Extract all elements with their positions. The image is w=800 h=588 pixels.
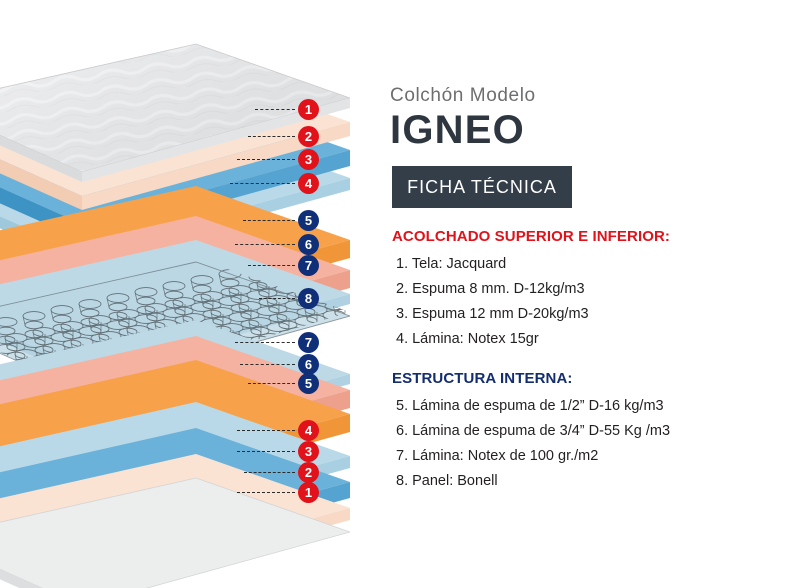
- callout-6[interactable]: 6: [235, 233, 319, 255]
- spec-item: 6. Lámina de espuma de 3/4” D-55 Kg /m3: [396, 419, 670, 444]
- callout-5[interactable]: 5: [248, 372, 319, 394]
- callout-8[interactable]: 8: [259, 287, 319, 309]
- spec-item: 2. Espuma 8 mm. D-12kg/m3: [396, 277, 589, 302]
- leader-line: [240, 364, 295, 365]
- callout-5[interactable]: 5: [243, 209, 319, 231]
- spec-item: 3. Espuma 12 mm D-20kg/m3: [396, 302, 589, 327]
- spec-list-estructura: 5. Lámina de espuma de 1/2” D-16 kg/m36.…: [396, 394, 670, 494]
- badge-number: 3: [298, 149, 319, 170]
- callout-3[interactable]: 3: [237, 148, 319, 170]
- brand-pre-title: Colchón Modelo: [390, 85, 536, 107]
- spec-item: 1. Tela: Jacquard: [396, 252, 589, 277]
- leader-line: [237, 451, 295, 452]
- callout-4[interactable]: 4: [230, 172, 319, 194]
- badge-number: 6: [298, 234, 319, 255]
- spec-item: 4. Lámina: Notex 15gr: [396, 327, 589, 352]
- leader-line: [259, 298, 295, 299]
- callout-2[interactable]: 2: [244, 461, 319, 483]
- callout-3[interactable]: 3: [237, 440, 319, 462]
- spec-list-acolchado: 1. Tela: Jacquard2. Espuma 8 mm. D-12kg/…: [396, 252, 589, 352]
- ficha-tecnica-banner: FICHA TÉCNICA: [392, 166, 572, 208]
- badge-number: 7: [298, 255, 319, 276]
- page-root: 123456787654321 Colchón Modelo IGNEO FIC…: [0, 0, 800, 588]
- callout-1[interactable]: 1: [255, 98, 319, 120]
- badge-number: 7: [298, 332, 319, 353]
- badge-number: 3: [298, 441, 319, 462]
- spec-item: 7. Lámina: Notex de 100 gr./m2: [396, 444, 670, 469]
- badge-number: 5: [298, 373, 319, 394]
- section-heading-acolchado: ACOLCHADO SUPERIOR E INFERIOR:: [392, 228, 670, 245]
- leader-line: [237, 430, 295, 431]
- leader-line: [235, 342, 295, 343]
- badge-number: 2: [298, 126, 319, 147]
- spec-item: 8. Panel: Bonell: [396, 469, 670, 494]
- badge-number: 2: [298, 462, 319, 483]
- callout-2[interactable]: 2: [248, 125, 319, 147]
- leader-line: [235, 244, 295, 245]
- leader-line: [255, 109, 295, 110]
- leader-line: [244, 472, 295, 473]
- badge-number: 4: [298, 173, 319, 194]
- badge-number: 1: [298, 482, 319, 503]
- page-title: IGNEO: [390, 108, 525, 153]
- leader-line: [248, 383, 295, 384]
- callout-7[interactable]: 7: [235, 331, 319, 353]
- ficha-tecnica-label: FICHA TÉCNICA: [407, 177, 557, 198]
- spec-item: 5. Lámina de espuma de 1/2” D-16 kg/m3: [396, 394, 670, 419]
- info-panel: Colchón Modelo IGNEO FICHA TÉCNICA ACOLC…: [390, 0, 790, 588]
- badge-number: 5: [298, 210, 319, 231]
- badge-number: 8: [298, 288, 319, 309]
- leader-line: [243, 220, 295, 221]
- leader-line: [248, 265, 295, 266]
- callout-1[interactable]: 1: [237, 481, 319, 503]
- leader-line: [230, 183, 295, 184]
- section-heading-estructura: ESTRUCTURA INTERNA:: [392, 370, 573, 387]
- badge-number: 1: [298, 99, 319, 120]
- callout-7[interactable]: 7: [248, 254, 319, 276]
- callout-4[interactable]: 4: [237, 419, 319, 441]
- badge-number: 4: [298, 420, 319, 441]
- leader-line: [248, 136, 295, 137]
- leader-line: [237, 159, 295, 160]
- leader-line: [237, 492, 295, 493]
